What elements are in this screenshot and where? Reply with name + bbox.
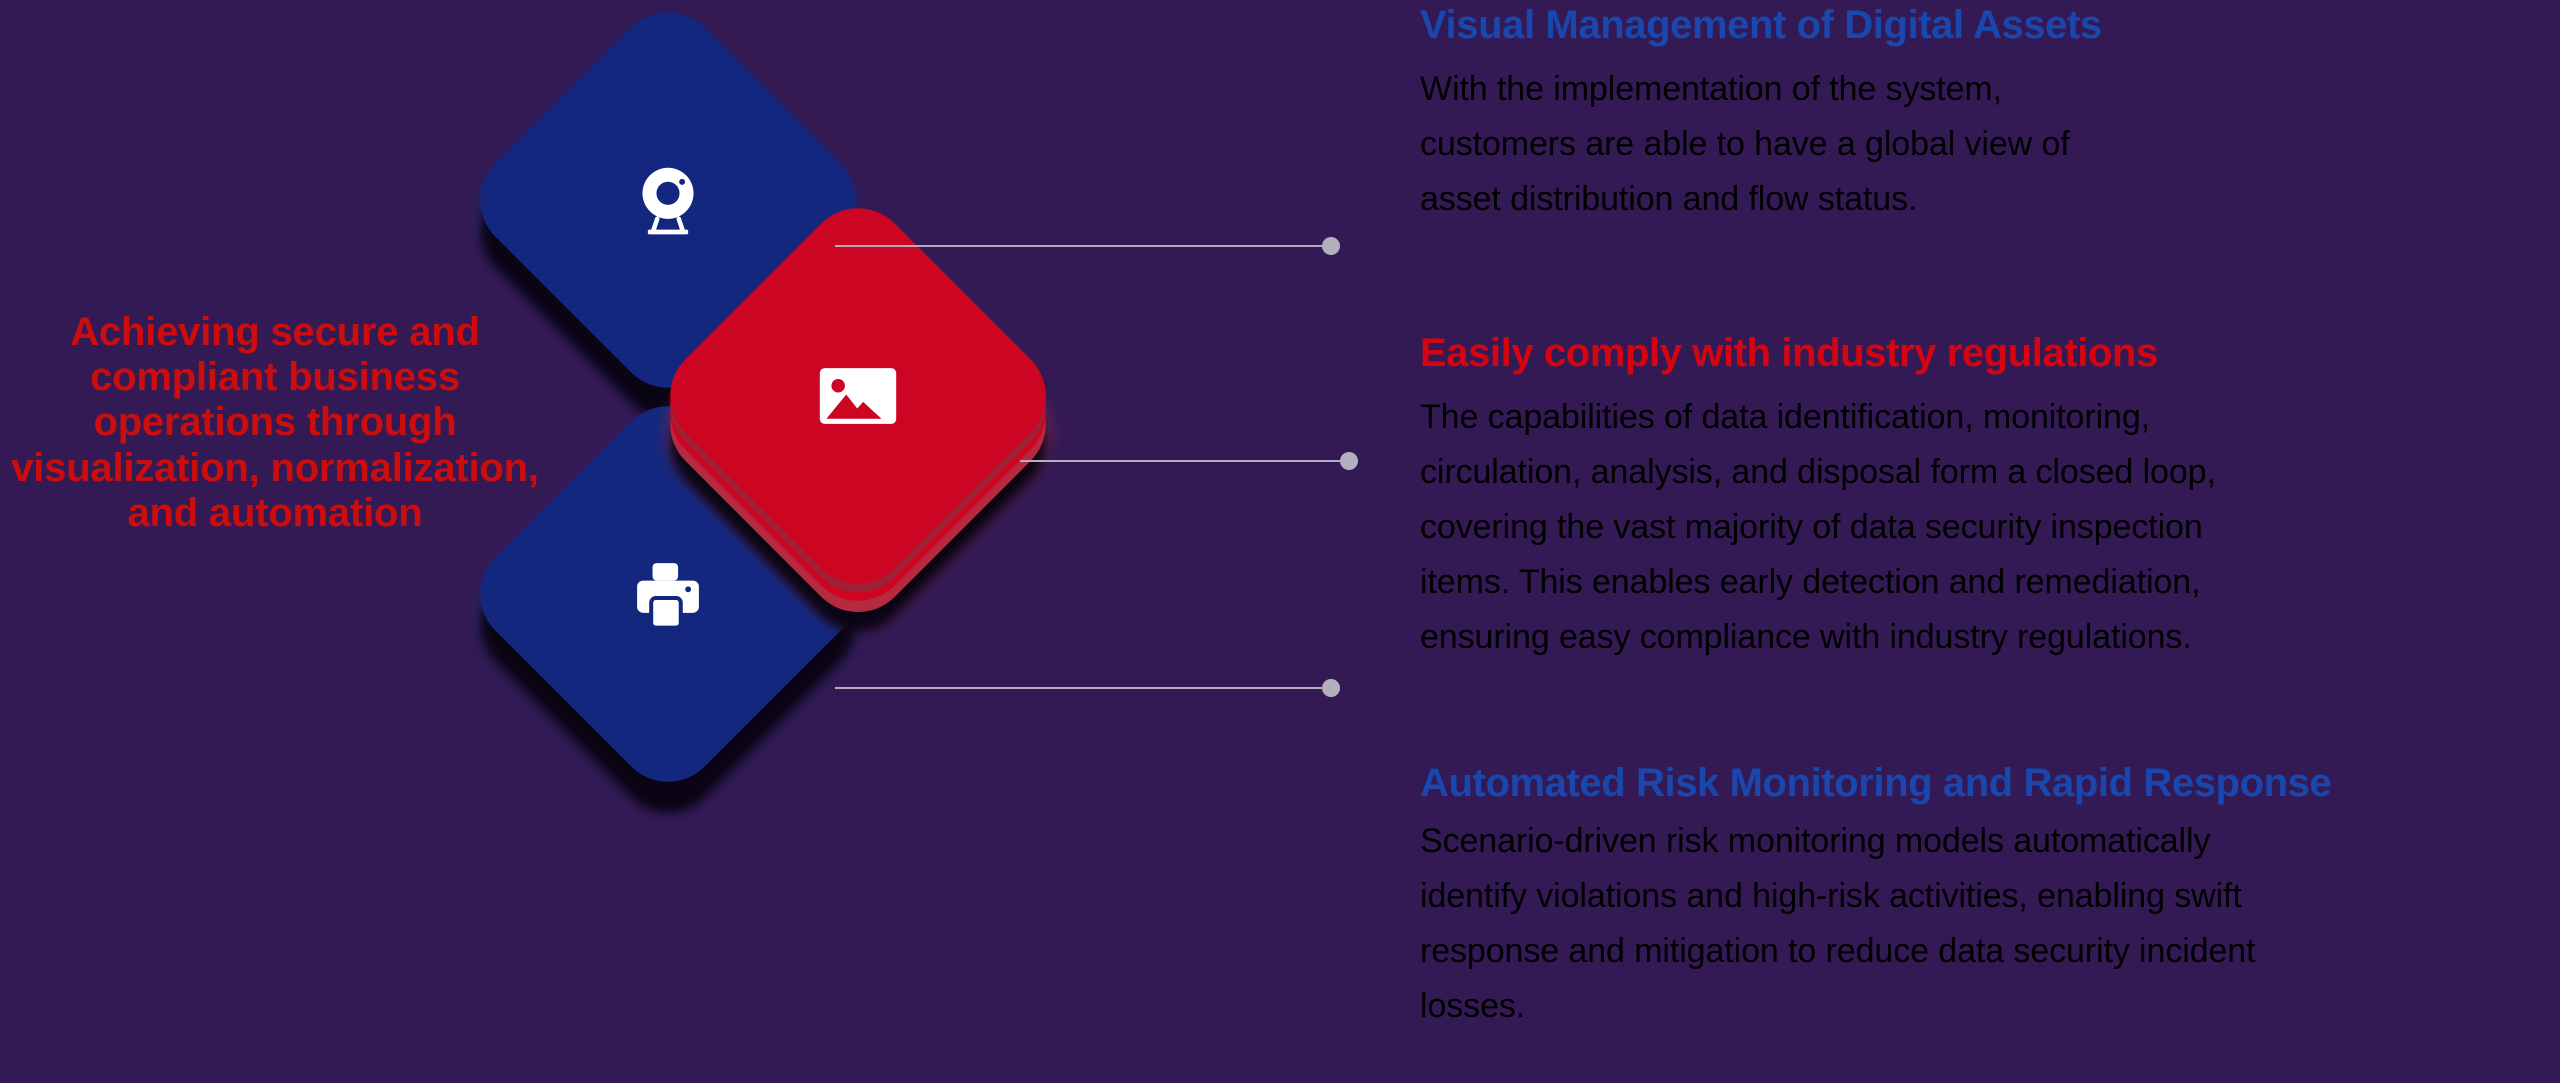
connector-stroke-2 — [1020, 460, 1340, 462]
body-line: circulation, analysis, and disposal form… — [1420, 445, 2216, 500]
infographic-canvas: Achieving secure and compliant business … — [0, 0, 2560, 1083]
connector-dot-3 — [1322, 679, 1340, 697]
body-line: identify violations and high-risk activi… — [1420, 869, 2331, 924]
body-line: With the implementation of the system, — [1420, 62, 2102, 117]
body-line: response and mitigation to reduce data s… — [1420, 924, 2331, 979]
body-line: covering the vast majority of data secur… — [1420, 500, 2216, 555]
body-line: items. This enables early detection and … — [1420, 555, 2216, 610]
text-block-easily-comply: Easily comply with industry regulations … — [1420, 330, 2216, 665]
body-line: Scenario-driven risk monitoring models a… — [1420, 814, 2331, 869]
connector-line-1 — [835, 237, 1340, 255]
block-body-easily-comply: The capabilities of data identification,… — [1420, 390, 2216, 665]
body-line: The capabilities of data identification,… — [1420, 390, 2216, 445]
block-body-visual-management: With the implementation of the system, c… — [1420, 62, 2102, 227]
block-body-automated-risk: Scenario-driven risk monitoring models a… — [1420, 814, 2331, 1034]
diamond-cluster — [460, 10, 1180, 930]
connector-line-3 — [835, 679, 1340, 697]
block-title-easily-comply: Easily comply with industry regulations — [1420, 330, 2216, 376]
connector-dot-1 — [1322, 237, 1340, 255]
body-line: losses. — [1420, 979, 2331, 1034]
text-block-visual-management: Visual Management of Digital Assets With… — [1420, 2, 2102, 227]
body-line: ensuring easy compliance with industry r… — [1420, 610, 2216, 665]
text-block-automated-risk: Automated Risk Monitoring and Rapid Resp… — [1420, 760, 2331, 1034]
block-title-visual-management: Visual Management of Digital Assets — [1420, 2, 2102, 48]
connector-stroke-1 — [835, 245, 1322, 247]
body-line: asset distribution and flow status. — [1420, 172, 2102, 227]
block-title-automated-risk: Automated Risk Monitoring and Rapid Resp… — [1420, 760, 2331, 806]
connector-stroke-3 — [835, 687, 1322, 689]
connector-line-2 — [1020, 452, 1358, 470]
body-line: customers are able to have a global view… — [1420, 117, 2102, 172]
connector-dot-2 — [1340, 452, 1358, 470]
